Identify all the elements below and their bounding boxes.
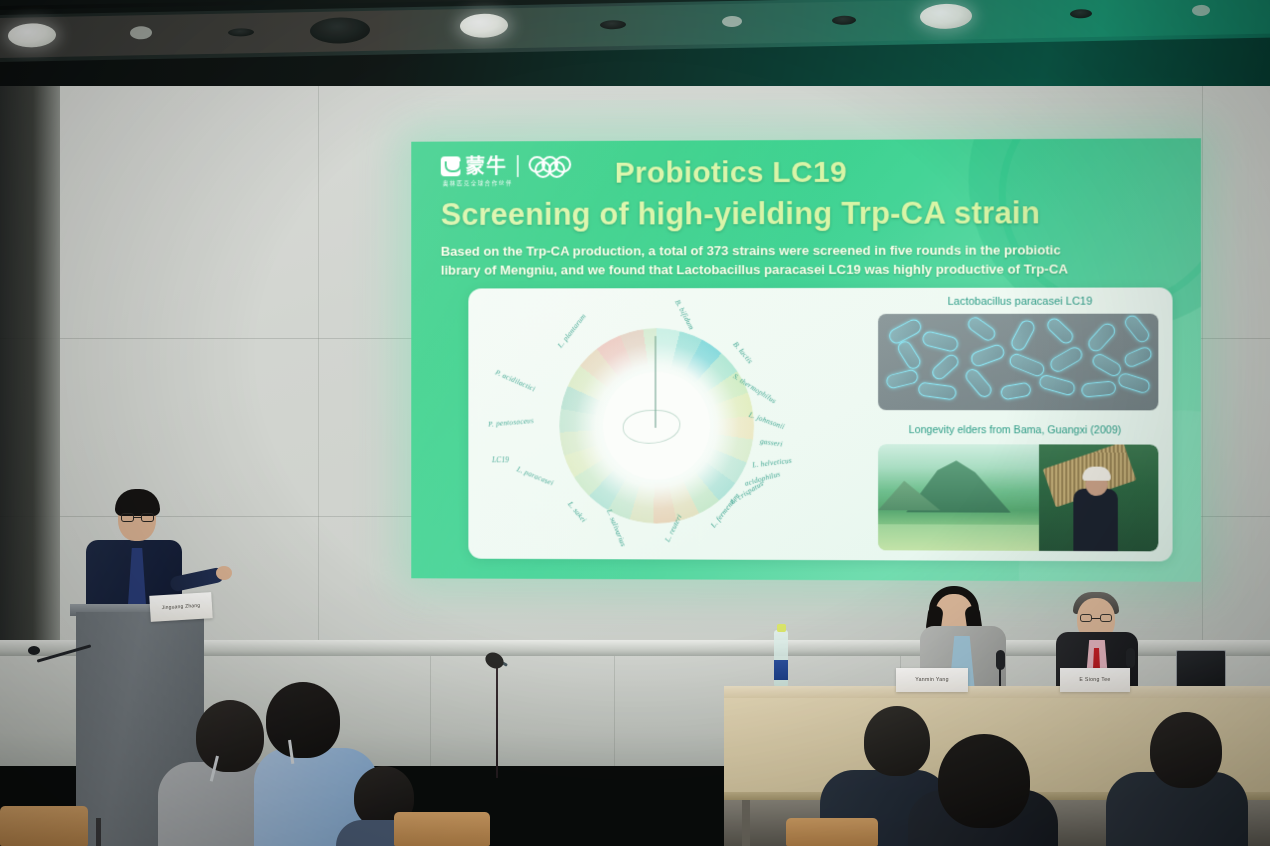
micrograph-caption: Lactobacillus paracasei LC19 [874,296,1166,308]
ceiling-vent-icon [832,16,856,25]
panelist-2-nameplate: E Siong Tee [1060,668,1130,692]
ceiling-light [8,23,56,48]
audience-member-head [266,682,340,758]
mengniu-name-cn: 蒙牛 [465,156,506,176]
ceiling-speaker-icon [310,17,370,44]
brand-divider [517,155,518,177]
panel-mic-head-1 [996,650,1005,670]
laptop-screen[interactable] [1176,650,1226,688]
slide-title-line2: Screening of high-yielding Trp-CA strain [441,195,1040,233]
panel-table-leg [742,800,750,846]
phylo-label-group: L. plantarumB. bifidumB. lactisS. thermo… [474,292,862,293]
speaker-hand [216,566,232,580]
audience-member-head [938,734,1030,828]
panelist-1-nameplate: Yanmin Yang [896,668,968,692]
slide-body-line2: library of Mengniu, and we found that La… [441,260,1161,280]
ceiling-light-small [130,26,152,39]
phylo-species-label: LC19 [492,455,509,464]
slide-content-card: L. plantarumB. bifidumB. lactisS. thermo… [468,287,1172,561]
phylo-species-label: L. sakei [566,500,588,525]
panelist-2-glasses-icon [1080,614,1112,622]
audience-chair [786,818,878,846]
audience-member-head [196,700,264,772]
projection-slide: 蒙牛 奥林匹克全球合作伙伴 Probiotics LC19 Screening … [411,138,1201,581]
ceiling-light-small [722,16,742,27]
audience-chair [0,806,88,846]
phylo-species-label: B. lactis [731,340,755,366]
lecture-hall-scene: 蒙牛 奥林匹克全球合作伙伴 Probiotics LC19 Screening … [0,0,1270,846]
phylo-species-label: B. bifidum [673,298,696,331]
ceiling-vent-icon [1070,9,1092,18]
elder-photo [1039,444,1158,551]
slide-title-line1: Probiotics LC19 [615,156,847,191]
panel-mic-stem-1 [999,668,1001,688]
water-bottle-cap [777,624,786,632]
elder-body [1073,489,1117,552]
bama-mountain-photo [878,444,1039,551]
panel-mic-head-2 [1126,648,1135,668]
field-foreground [878,524,1039,551]
phylo-species-label: P. pentosaceus [488,416,534,429]
panelist-2-nameplate-text: E Siong Tee [1079,677,1110,683]
landscape-caption: Longevity elders from Bama, Guangxi (200… [862,424,1168,436]
phylo-species-label: L. plantarum [556,312,588,350]
ceiling-vent-icon [228,28,254,36]
olympic-rings-icon [528,156,581,176]
phylo-species-label: L. paracasei [516,464,555,487]
audience-member-head [1150,712,1222,788]
speaker-nameplate: Jinguang Zhang [149,592,212,622]
podium-mic-head [28,646,40,655]
panelist-1-nameplate-text: Yanmin Yang [915,677,949,683]
speaker-nameplate-text: Jinguang Zhang [162,603,201,611]
elder-headwrap [1082,467,1110,481]
phylogenetic-wheel-chart: L. plantarumB. bifidumB. lactisS. thermo… [474,292,862,558]
ceiling-light-small [1192,5,1210,16]
phylo-species-label: gasseri [760,436,784,448]
ceiling-light [920,3,972,29]
phylo-species-label: L. helveticus [752,456,793,470]
mengniu-logo: 蒙牛 [441,156,507,176]
ceiling-light [460,13,508,38]
speaker-glasses-icon [121,513,154,522]
phylo-species-label: P. acidilactici [494,367,537,393]
wall-left-dark-panel [0,86,60,646]
micrograph-image [878,314,1158,411]
slide-body-line1: Based on the Trp-CA production, a total … [441,241,1161,261]
landscape-images [878,444,1158,551]
mengniu-mark-icon [441,156,461,176]
slide-body-text: Based on the Trp-CA production, a total … [441,241,1161,280]
audience-member-head [864,706,930,776]
floor-mic-stand [496,662,498,778]
chair-leg [96,818,101,846]
water-bottle-label [774,660,788,680]
audience-chair [394,812,490,846]
ceiling-vent-icon [600,20,626,29]
